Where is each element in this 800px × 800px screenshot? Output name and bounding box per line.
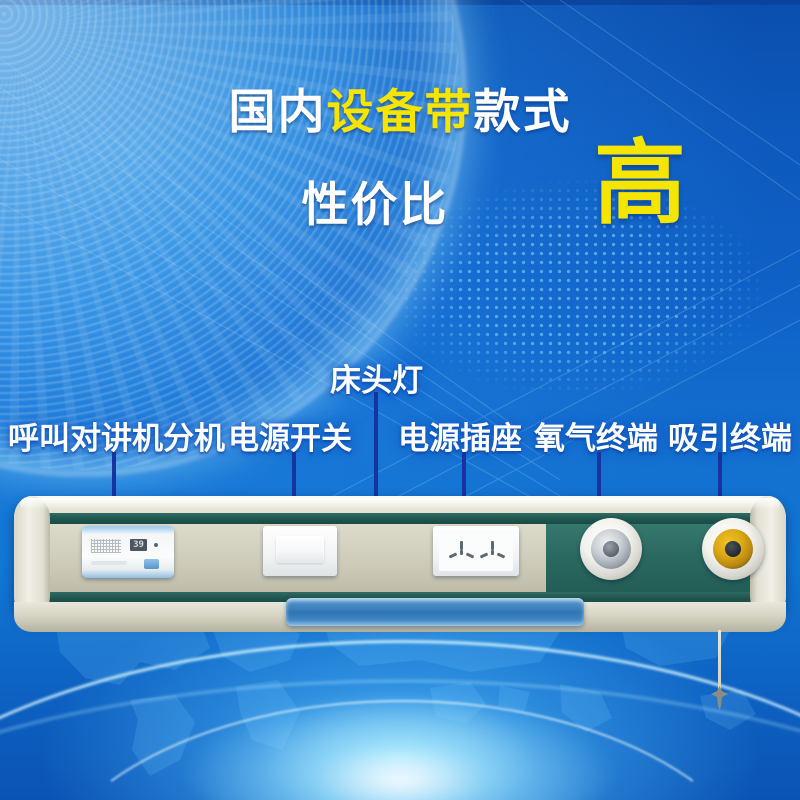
bed-lamp-diffuser [286, 598, 584, 626]
headline-subtext: 性价比 [302, 166, 449, 235]
headline-line-1: 国内设备带款式 [0, 88, 800, 135]
suction-terminal-ring [713, 529, 753, 569]
socket-hole-right [466, 553, 475, 559]
suction-terminal-outlet[interactable] [702, 518, 764, 580]
panel-endcap-left [14, 496, 50, 618]
medical-bedhead-panel: 39 [14, 496, 786, 632]
headline-text-part2: 款式 [474, 85, 572, 138]
intercom-unit[interactable]: 39 [82, 526, 174, 578]
socket-hole-left [480, 553, 489, 559]
socket-outlet-right[interactable] [479, 541, 507, 563]
socket-hole-left [449, 553, 458, 559]
panel-top-highlight [20, 498, 780, 510]
socket-faceplate [439, 531, 513, 571]
socket-hole-top [460, 541, 463, 550]
label-suction-terminal: 吸引终端 [668, 413, 792, 458]
intercom-call-button[interactable] [144, 559, 159, 569]
label-power-socket: 电源插座 [398, 413, 522, 458]
intercom-display: 39 [130, 539, 147, 551]
socket-hole-center [491, 550, 494, 555]
cord-grip-icon [706, 686, 733, 710]
oxygen-terminal-ring [591, 529, 631, 569]
headline-block: 国内设备带款式 性价比 高 [0, 88, 800, 135]
speaker-grille-icon [91, 539, 121, 553]
label-oxygen-terminal: 氧气终端 [534, 413, 658, 458]
poster-canvas: 国内设备带款式 性价比 高 床头灯 呼叫对讲机分机 电源开关 电源插座 氧气终端… [0, 0, 800, 800]
oxygen-terminal-outlet[interactable] [580, 518, 642, 580]
panel-stripe-top [36, 513, 764, 524]
oxygen-terminal-port [603, 541, 619, 557]
label-power-switch: 电源开关 [228, 413, 352, 458]
socket-hole-right [497, 553, 506, 559]
intercom-indicator-led [154, 543, 158, 547]
power-switch-plate[interactable] [263, 526, 337, 576]
headline-text-highlight: 设备带 [327, 85, 474, 138]
socket-hole-top [491, 541, 494, 550]
power-socket-plate[interactable] [433, 526, 519, 576]
suction-terminal-port [725, 541, 741, 557]
label-intercom: 呼叫对讲机分机 [8, 413, 225, 458]
headline-emphasis-char: 高 [594, 138, 686, 230]
headline-text-part1: 国内 [229, 85, 327, 138]
power-switch-rocker[interactable] [276, 536, 324, 563]
socket-hole-center [460, 550, 463, 555]
socket-outlet-left[interactable] [448, 541, 476, 563]
intercom-slot [91, 561, 127, 565]
